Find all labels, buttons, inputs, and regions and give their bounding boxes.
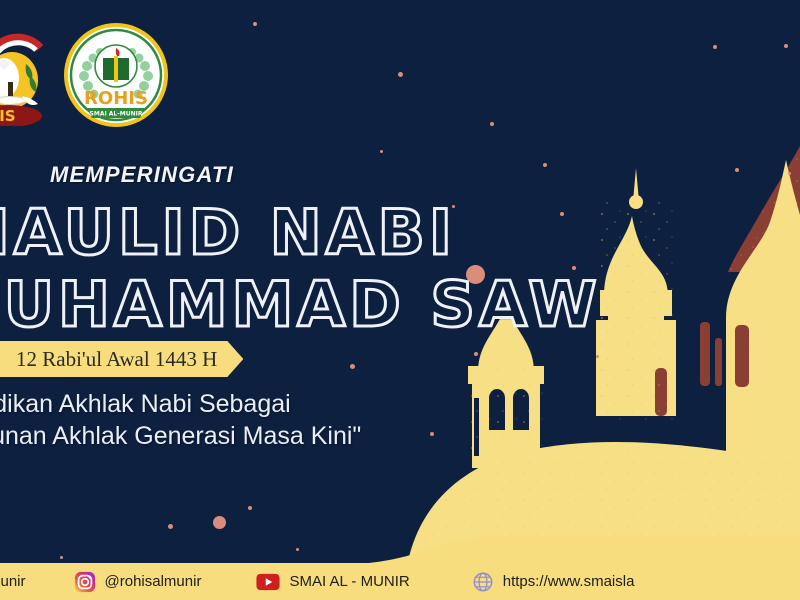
footer-bar: munir @rohisalmunir	[0, 563, 800, 600]
footer-item-website[interactable]: https://www.smaisla	[472, 571, 635, 593]
osis-logo: SIS	[0, 8, 50, 126]
page-title-line2: MUHAMMAD SAW	[0, 268, 601, 341]
date-ribbon-label: 12 Rabi'ul Awal 1443 H	[16, 347, 217, 372]
eyebrow-text: MEMPERINGATI	[50, 162, 234, 188]
instagram-icon	[74, 571, 96, 593]
center-minaret	[596, 168, 676, 420]
svg-text:SMAI AL-MUNIR: SMAI AL-MUNIR	[90, 111, 143, 118]
right-building-windows	[700, 322, 749, 387]
footer-item-youtube[interactable]: SMAI AL - MUNIR	[256, 573, 409, 591]
footer-label-facebook: munir	[0, 573, 26, 590]
youtube-icon	[256, 573, 280, 591]
quote-line-1: "Jadikan Akhlak Nabi Sebagai	[0, 390, 291, 419]
footer-label-youtube: SMAI AL - MUNIR	[289, 573, 409, 590]
date-ribbon: 12 Rabi'ul Awal 1443 H	[0, 341, 243, 377]
page-title-line1: MAULID NABI	[0, 196, 456, 269]
poster-canvas: SIS ROHIS SMAI AL-MUNIR MEMPERINGATI MAU…	[0, 0, 800, 600]
footer-item-instagram[interactable]: @rohisalmunir	[74, 571, 202, 593]
footer-label-website: https://www.smaisla	[503, 573, 635, 590]
footer-label-instagram: @rohisalmunir	[105, 573, 202, 590]
svg-text:SIS: SIS	[0, 107, 16, 125]
footer-item-facebook[interactable]: munir	[0, 571, 26, 592]
rohis-logo: ROHIS SMAI AL-MUNIR	[63, 22, 169, 128]
quote-line-2: Tuntunan Akhlak Generasi Masa Kini"	[0, 422, 361, 451]
globe-icon	[472, 571, 494, 593]
svg-text:ROHIS: ROHIS	[84, 88, 148, 109]
